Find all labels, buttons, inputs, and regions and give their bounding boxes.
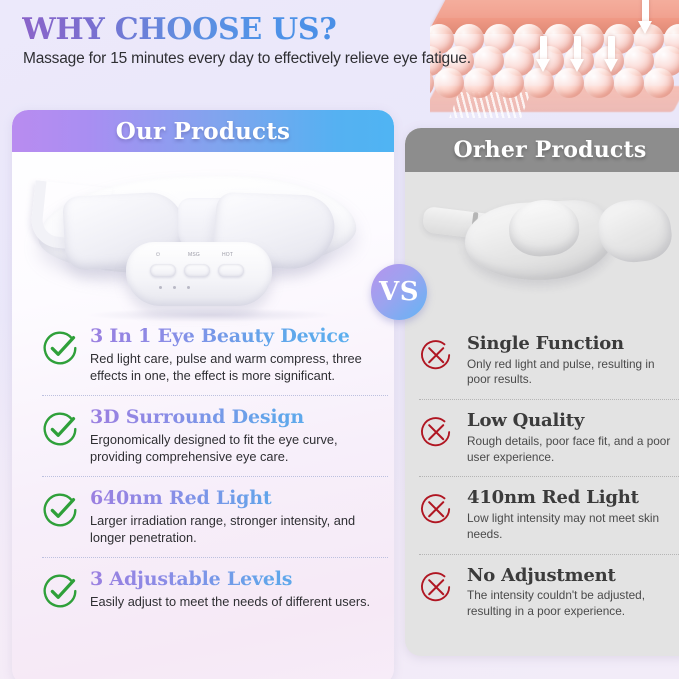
device-led-indicators — [159, 286, 190, 289]
x-circle-icon — [419, 415, 455, 451]
skin-cell-bubble — [494, 68, 524, 98]
feature-item: 640nm Red LightLarger irradiation range,… — [42, 488, 388, 546]
other-products-feature-list: Single FunctionOnly red light and pulse,… — [419, 334, 679, 620]
feature-item: 3 Adjustable LevelsEasily adjust to meet… — [42, 569, 388, 610]
feature-item: No AdjustmentThe intensity couldn't be a… — [419, 566, 679, 620]
feature-item: 410nm Red LightLow light intensity may n… — [419, 488, 679, 542]
feature-text: 410nm Red LightLow light intensity may n… — [467, 488, 679, 542]
skin-fiber-texture — [449, 92, 530, 118]
feature-heading: 410nm Red Light — [467, 488, 679, 508]
infographic-canvas: WHY CHOOSE US? Massage for 15 minutes ev… — [0, 0, 679, 679]
feature-body: Easily adjust to meet the needs of diffe… — [90, 593, 388, 610]
feature-heading: 3D Surround Design — [90, 407, 388, 428]
check-circle-icon — [42, 573, 78, 609]
pressure-arrow-icon — [638, 0, 652, 38]
competitor-side-panel — [595, 196, 674, 266]
other-products-banner: Orher Products — [405, 128, 679, 172]
pressure-arrow-icon — [570, 36, 584, 76]
x-circle-icon — [419, 338, 455, 374]
feature-text: 3 In 1 Eye Beauty DeviceRed light care, … — [90, 326, 388, 384]
our-products-card: Our Products ⏻ MSG HOT — [12, 110, 394, 679]
feature-heading: Low Quality — [467, 411, 679, 431]
x-circle-icon — [419, 415, 453, 449]
feature-body: Larger irradiation range, stronger inten… — [90, 512, 388, 546]
feature-body: Rough details, poor face fit, and a poor… — [467, 434, 679, 465]
massage-button — [184, 264, 210, 277]
x-circle-icon — [419, 570, 455, 606]
feature-separator — [419, 399, 679, 400]
feature-heading: Single Function — [467, 334, 679, 354]
check-circle-icon — [42, 330, 78, 366]
pressure-arrow-icon — [604, 36, 618, 76]
feature-separator — [42, 557, 388, 558]
feature-item: Single FunctionOnly red light and pulse,… — [419, 334, 679, 388]
feature-body: Low light intensity may not meet skin ne… — [467, 511, 679, 542]
device-control-pod: ⏻ MSG HOT — [126, 242, 272, 306]
other-product-image — [417, 180, 679, 312]
check-circle-icon — [42, 411, 78, 447]
feature-text: No AdjustmentThe intensity couldn't be a… — [467, 566, 679, 620]
check-circle-icon — [42, 573, 78, 609]
vs-badge-label: VS — [379, 277, 419, 307]
check-circle-icon — [42, 330, 78, 366]
skin-cell-bubble — [464, 68, 494, 98]
massage-button-label: MSG — [188, 252, 200, 258]
feature-text: Low QualityRough details, poor face fit,… — [467, 411, 679, 465]
x-circle-icon — [419, 338, 453, 372]
feature-item: Low QualityRough details, poor face fit,… — [419, 411, 679, 465]
check-circle-icon — [42, 492, 78, 528]
x-circle-icon — [419, 492, 453, 526]
heat-button — [218, 264, 244, 277]
other-products-banner-label: Orher Products — [454, 137, 647, 163]
feature-text: Single FunctionOnly red light and pulse,… — [467, 334, 679, 388]
feature-heading: No Adjustment — [467, 566, 679, 586]
other-products-card: Orher Products Single FunctionOnly red l… — [405, 128, 679, 656]
x-circle-icon — [419, 570, 453, 604]
feature-text: 3D Surround DesignErgonomically designed… — [90, 407, 388, 465]
feature-text: 640nm Red LightLarger irradiation range,… — [90, 488, 388, 546]
feature-body: Only red light and pulse, resulting in p… — [467, 357, 679, 388]
feature-separator — [42, 395, 388, 396]
page-subtitle: Massage for 15 minutes every day to effe… — [23, 50, 471, 68]
device-shadow — [86, 308, 336, 322]
our-products-feature-list: 3 In 1 Eye Beauty DeviceRed light care, … — [42, 326, 388, 610]
feature-item: 3 In 1 Eye Beauty DeviceRed light care, … — [42, 326, 388, 384]
feature-separator — [42, 476, 388, 477]
feature-item: 3D Surround DesignErgonomically designed… — [42, 407, 388, 465]
power-button-label: ⏻ — [156, 252, 160, 258]
feature-separator — [419, 554, 679, 555]
x-circle-icon — [419, 492, 455, 528]
check-circle-icon — [42, 411, 78, 447]
heat-button-label: HOT — [222, 252, 233, 258]
vs-badge: VS — [371, 264, 427, 320]
our-product-image: ⏻ MSG HOT — [28, 158, 378, 328]
feature-body: Ergonomically designed to fit the eye cu… — [90, 431, 388, 465]
page-title: WHY CHOOSE US? — [22, 12, 337, 47]
feature-heading: 3 Adjustable Levels — [90, 569, 388, 590]
pressure-arrow-icon — [536, 36, 550, 76]
skin-cell-bubble — [614, 68, 644, 98]
feature-separator — [419, 476, 679, 477]
our-products-banner-label: Our Products — [116, 118, 290, 145]
device-button-row — [150, 264, 244, 277]
feature-body: Red light care, pulse and warm compress,… — [90, 350, 388, 384]
skin-cell-bubble — [644, 68, 674, 98]
power-button — [150, 264, 176, 277]
feature-text: 3 Adjustable LevelsEasily adjust to meet… — [90, 569, 388, 610]
our-products-banner: Our Products — [12, 110, 394, 152]
check-circle-icon — [42, 492, 78, 528]
feature-heading: 640nm Red Light — [90, 488, 388, 509]
feature-heading: 3 In 1 Eye Beauty Device — [90, 326, 388, 347]
feature-body: The intensity couldn't be adjusted, resu… — [467, 588, 679, 619]
skin-cell-bubble — [434, 68, 464, 98]
